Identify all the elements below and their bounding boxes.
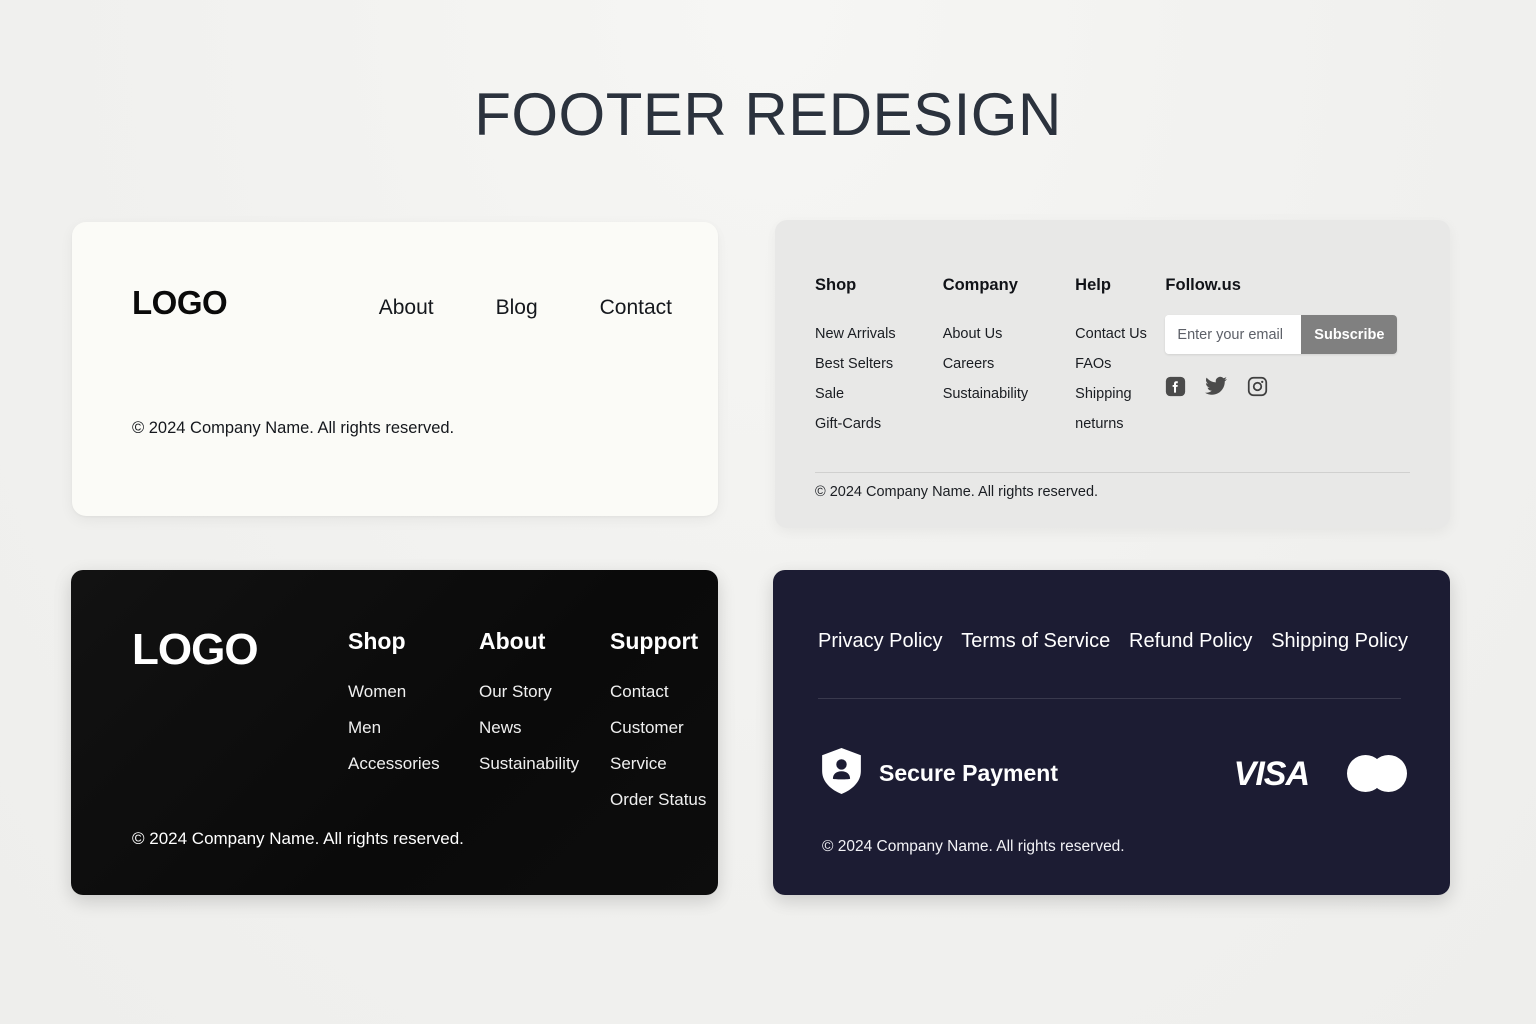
footer-variant-minimal: LOGO About Blog Contact © 2024 Company N… bbox=[72, 222, 718, 516]
page-title: FOOTER REDESIGN bbox=[0, 80, 1536, 149]
link-sustainability[interactable]: Sustainability bbox=[943, 379, 1075, 409]
column-about: About Our Story News Sustainability bbox=[479, 628, 610, 818]
footer-variant-dark: LOGO Shop Women Men Accessories About Ou… bbox=[71, 570, 718, 895]
instagram-icon[interactable] bbox=[1247, 376, 1268, 397]
shield-person-icon bbox=[822, 748, 861, 799]
column-shop: Shop Women Men Accessories bbox=[348, 628, 479, 818]
newsletter-form: Subscribe bbox=[1165, 315, 1397, 354]
column-support: Support Contact Customer Service Order S… bbox=[610, 628, 740, 818]
logo-wordmark: LOGO bbox=[132, 284, 227, 322]
copyright-text: © 2024 Company Name. All rights reserved… bbox=[815, 484, 1098, 500]
column-help: Help Contact Us FAOs Shipping neturns bbox=[1075, 276, 1165, 439]
link-sale[interactable]: Sale bbox=[815, 379, 943, 409]
link-our-story[interactable]: Our Story bbox=[479, 674, 591, 710]
link-contact-us[interactable]: Contact Us bbox=[1075, 319, 1147, 349]
link-accessories[interactable]: Accessories bbox=[348, 746, 460, 782]
column-shop: Shop New Arrivals Best Selters Sale Gift… bbox=[815, 276, 943, 439]
footer-divider bbox=[818, 698, 1401, 699]
legal-links: Privacy Policy Terms of Service Refund P… bbox=[818, 630, 1408, 653]
footer-variant-columns: Shop New Arrivals Best Selters Sale Gift… bbox=[775, 220, 1450, 528]
link-privacy-policy[interactable]: Privacy Policy bbox=[818, 630, 942, 653]
visa-icon: VISA bbox=[1234, 757, 1309, 791]
nav-link-about[interactable]: About bbox=[379, 296, 434, 320]
link-contact[interactable]: Contact bbox=[610, 674, 722, 710]
nav-link-contact[interactable]: Contact bbox=[600, 296, 672, 320]
link-shipping-returns[interactable]: Shipping neturns bbox=[1075, 379, 1147, 439]
link-women[interactable]: Women bbox=[348, 674, 460, 710]
link-about-us[interactable]: About Us bbox=[943, 319, 1075, 349]
payment-marks: VISA bbox=[1234, 755, 1407, 792]
secure-payment-label: Secure Payment bbox=[879, 760, 1058, 787]
footer-divider bbox=[815, 472, 1410, 473]
link-sustainability[interactable]: Sustainability bbox=[479, 746, 591, 782]
link-faqs[interactable]: FAOs bbox=[1075, 349, 1147, 379]
link-men[interactable]: Men bbox=[348, 710, 460, 746]
copyright-text: © 2024 Company Name. All rights reserved… bbox=[822, 838, 1125, 856]
link-terms-of-service[interactable]: Terms of Service bbox=[961, 630, 1110, 653]
copyright-text: © 2024 Company Name. All rights reserved… bbox=[132, 419, 454, 438]
dark-main-row: LOGO Shop Women Men Accessories About Ou… bbox=[132, 628, 740, 818]
subscribe-button[interactable]: Subscribe bbox=[1301, 315, 1397, 354]
column-follow: Follow.us Subscribe bbox=[1165, 276, 1415, 439]
social-links bbox=[1165, 376, 1415, 397]
link-shipping-policy[interactable]: Shipping Policy bbox=[1271, 630, 1408, 653]
nav-link-blog[interactable]: Blog bbox=[496, 296, 538, 320]
column-company: Company About Us Careers Sustainability bbox=[943, 276, 1075, 439]
link-refund-policy[interactable]: Refund Policy bbox=[1129, 630, 1252, 653]
column-heading-help: Help bbox=[1075, 276, 1165, 295]
column-heading-support: Support bbox=[610, 628, 740, 655]
link-customer-service[interactable]: Customer Service bbox=[610, 710, 722, 782]
link-careers[interactable]: Careers bbox=[943, 349, 1075, 379]
facebook-icon[interactable] bbox=[1165, 376, 1186, 397]
email-input[interactable] bbox=[1165, 315, 1301, 354]
link-gift-cards[interactable]: Gift-Cards bbox=[815, 409, 943, 439]
link-best-sellers[interactable]: Best Selters bbox=[815, 349, 943, 379]
twitter-icon[interactable] bbox=[1205, 376, 1228, 397]
footer-variant-legal: Privacy Policy Terms of Service Refund P… bbox=[773, 570, 1450, 895]
link-order-status[interactable]: Order Status bbox=[610, 782, 722, 818]
copyright-text: © 2024 Company Name. All rights reserved… bbox=[132, 829, 464, 849]
mastercard-icon bbox=[1347, 755, 1407, 792]
column-heading-follow: Follow.us bbox=[1165, 276, 1415, 295]
column-heading-about: About bbox=[479, 628, 610, 655]
mastercard-circle-right bbox=[1370, 755, 1407, 792]
logo-wordmark: LOGO bbox=[132, 628, 348, 818]
link-columns: Shop New Arrivals Best Selters Sale Gift… bbox=[815, 276, 1415, 439]
link-new-arrivals[interactable]: New Arrivals bbox=[815, 319, 943, 349]
column-heading-shop: Shop bbox=[815, 276, 943, 295]
column-heading-shop: Shop bbox=[348, 628, 479, 655]
minimal-header-row: LOGO About Blog Contact bbox=[132, 284, 672, 322]
minimal-nav: About Blog Contact bbox=[379, 296, 672, 320]
column-heading-company: Company bbox=[943, 276, 1075, 295]
link-news[interactable]: News bbox=[479, 710, 591, 746]
payment-row: Secure Payment VISA bbox=[822, 748, 1407, 799]
